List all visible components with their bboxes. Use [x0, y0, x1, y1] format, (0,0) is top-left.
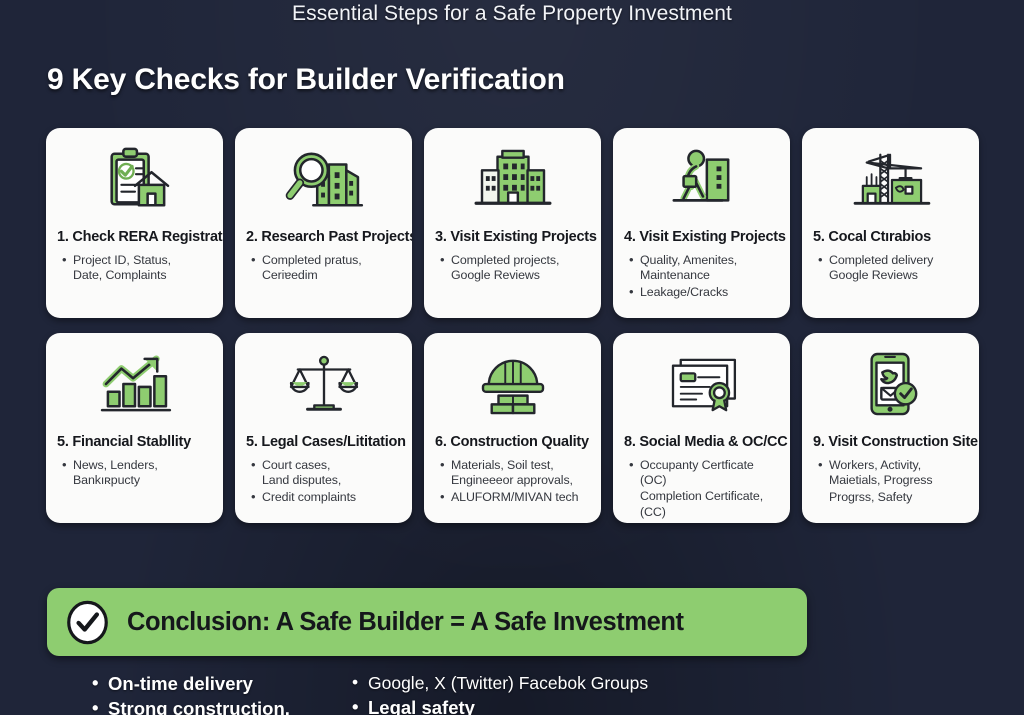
card-bullet: Court cases,Land disputes, — [249, 458, 401, 489]
card-title: 8. Social Media & OC/CC — [624, 434, 779, 451]
card-title: 6. Construction Quality — [435, 434, 590, 451]
bullet-line-primary: Credit complaints — [262, 490, 356, 504]
card-title: 5. Legal Cases/Lititation — [246, 434, 401, 451]
card-bullet-list: Quality, Amenites,MaintenanceLeakage/Cra… — [624, 253, 779, 302]
card-bullet: Occupanty Certficate (OC)Completion Cert… — [627, 458, 779, 521]
bullet-line-primary: Materials, Soil test, — [451, 458, 554, 472]
card-title: 5. Cocal Ctırabios — [813, 229, 968, 246]
card-bullet: Credit complaints — [249, 490, 401, 506]
certificate-seal-icon — [624, 348, 779, 422]
check-card[interactable]: 3. Visit Existing ProjectsCompleted proj… — [424, 128, 601, 318]
check-card[interactable]: 1. Check RERA RegistrationProject ID, St… — [46, 128, 223, 318]
bullet-line-primary: Legal habitation — [640, 521, 726, 523]
smartphone-bird-check-icon — [813, 348, 968, 422]
card-bullet: Completed deliveryGoogle Reviews — [816, 253, 968, 284]
bullet-line-secondary: Land disputes, — [262, 473, 401, 489]
bullet-line-secondary: Completion Certificate, (CC) — [640, 489, 779, 520]
infographic-page: Essential Steps for a Safe Property Inve… — [0, 0, 1024, 715]
bullet-line-primary: Project ID, Status, — [73, 253, 171, 267]
bullet-line-secondary: Maintenance — [640, 268, 779, 284]
eyebrow-subtitle: Essential Steps for a Safe Property Inve… — [0, 2, 1024, 26]
card-bullet-list: Court cases,Land disputes,Credit complai… — [246, 458, 401, 507]
bullet-line-primary: Completed delivery — [829, 253, 933, 267]
summary-bullet: Google, X (Twitter) Facebok Groups — [352, 672, 920, 696]
bottom-right-column: Google, X (Twitter) Facebok GroupsLegal … — [320, 672, 920, 715]
check-circle-icon — [65, 600, 110, 645]
person-walking-building-icon — [624, 143, 779, 217]
checks-card-grid: 1. Check RERA RegistrationProject ID, St… — [46, 128, 978, 523]
card-title: 5. Financial Stabllity — [57, 434, 212, 451]
check-card[interactable]: 8. Social Media & OC/CCOccupanty Certfic… — [613, 333, 790, 523]
bullet-line-secondary: Ceriɐedim — [262, 268, 401, 284]
card-bullet: Materials, Soil test,Engineeeor approval… — [438, 458, 590, 489]
page-title: 9 Key Checks for Builder Verification — [47, 63, 565, 97]
bullet-line-primary: News, Lenders, — [73, 458, 158, 472]
card-bullet: Legal habitation — [627, 521, 779, 523]
card-title: 2. Research Past Projects — [246, 229, 401, 246]
bottom-left-column: On-time deliveryStrong construction. — [0, 672, 320, 715]
clipboard-check-house-icon — [57, 143, 212, 217]
card-bullet-list: News, Lenders,Bankıʀpucty — [57, 458, 212, 490]
card-bullet: Quality, Amenites,Maintenance — [627, 253, 779, 284]
card-bullet-list: Completed pratus,Ceriɐedim — [246, 253, 401, 285]
crane-construction-site-icon — [813, 143, 968, 217]
check-card[interactable]: 9. Visit Construction SiteWorkers, Activ… — [802, 333, 979, 523]
bottom-summary: On-time deliveryStrong construction. Goo… — [0, 672, 1024, 715]
card-bullet-list: Completed projects,Google Reviews — [435, 253, 590, 285]
card-bullet: Completed projects,Google Reviews — [438, 253, 590, 284]
bullet-line-secondary: Google Reviews — [829, 268, 968, 284]
bullet-line-secondary: Google Reviews — [451, 268, 590, 284]
bullet-line-primary: Occupanty Certficate (OC) — [640, 458, 754, 488]
card-bullet-continuation: Progrss, Safety — [816, 490, 968, 506]
card-bullet: Project ID, Status,Date, Complaints — [60, 253, 212, 284]
check-card[interactable]: 2. Research Past ProjectsCompleted pratu… — [235, 128, 412, 318]
bullet-line-secondary: Bankıʀpucty — [73, 473, 212, 489]
bullet-line-primary: Quality, Amenites, — [640, 253, 737, 267]
card-bullet: News, Lenders,Bankıʀpucty — [60, 458, 212, 489]
card-bullet-list: Occupanty Certficate (OC)Completion Cert… — [624, 458, 779, 523]
conclusion-text: Conclusion: A Safe Builder = A Safe Inve… — [127, 608, 684, 637]
check-card[interactable]: 4. Visit Existing ProjectsQuality, Ameni… — [613, 128, 790, 318]
card-bullet: Leakage/Cracks — [627, 285, 779, 301]
magnifier-buildings-icon — [246, 143, 401, 217]
check-card[interactable]: 5. Financial StabllityNews, Lenders,Bank… — [46, 333, 223, 523]
check-card[interactable]: 6. Construction QualityMaterials, Soil t… — [424, 333, 601, 523]
card-title: 1. Check RERA Registration — [57, 229, 212, 246]
card-bullet: ALUFORM/MIVAN tech — [438, 490, 590, 506]
bullet-line-primary: Workers, Activity, — [829, 458, 921, 472]
card-bullet-list: Workers, Activity,Maietials, ProgressPro… — [813, 458, 968, 507]
bullet-line-primary: Completed projects, — [451, 253, 559, 267]
bullet-line-secondary: Progrss, Safety — [829, 490, 968, 506]
bar-chart-growth-icon — [57, 348, 212, 422]
bullet-line-primary: Court cases, — [262, 458, 330, 472]
bullet-line-secondary: Maietials, Progress — [829, 473, 968, 489]
card-bullet: Workers, Activity,Maietials, Progress — [816, 458, 968, 489]
check-card[interactable]: 5. Legal Cases/LititationCourt cases,Lan… — [235, 333, 412, 523]
summary-bullet: Strong construction. — [92, 697, 320, 715]
bullet-line-primary: ALUFORM/MIVAN tech — [451, 490, 578, 504]
bullet-line-secondary: Engineeeor approvals, — [451, 473, 590, 489]
card-bullet: Completed pratus,Ceriɐedim — [249, 253, 401, 284]
balance-scales-icon — [246, 348, 401, 422]
summary-bullet: On-time delivery — [92, 672, 320, 697]
card-bullet-list: Project ID, Status,Date, Complaints — [57, 253, 212, 285]
office-building-icon — [435, 143, 590, 217]
card-bullet-list: Completed deliveryGoogle Reviews — [813, 253, 968, 285]
hard-hat-bricks-icon — [435, 348, 590, 422]
bullet-line-primary: Leakage/Cracks — [640, 285, 728, 299]
conclusion-banner: Conclusion: A Safe Builder = A Safe Inve… — [47, 588, 807, 656]
bullet-line-primary: Completed pratus, — [262, 253, 362, 267]
card-title: 9. Visit Construction Site — [813, 434, 968, 451]
check-card[interactable]: 5. Cocal CtırabiosCompleted deliveryGoog… — [802, 128, 979, 318]
bullet-line-secondary: Date, Complaints — [73, 268, 212, 284]
card-title: 4. Visit Existing Projects — [624, 229, 779, 246]
summary-bullet: Legal safety — [352, 696, 920, 715]
card-title: 3. Visit Existing Projects — [435, 229, 590, 246]
card-bullet-list: Materials, Soil test,Engineeeor approval… — [435, 458, 590, 507]
